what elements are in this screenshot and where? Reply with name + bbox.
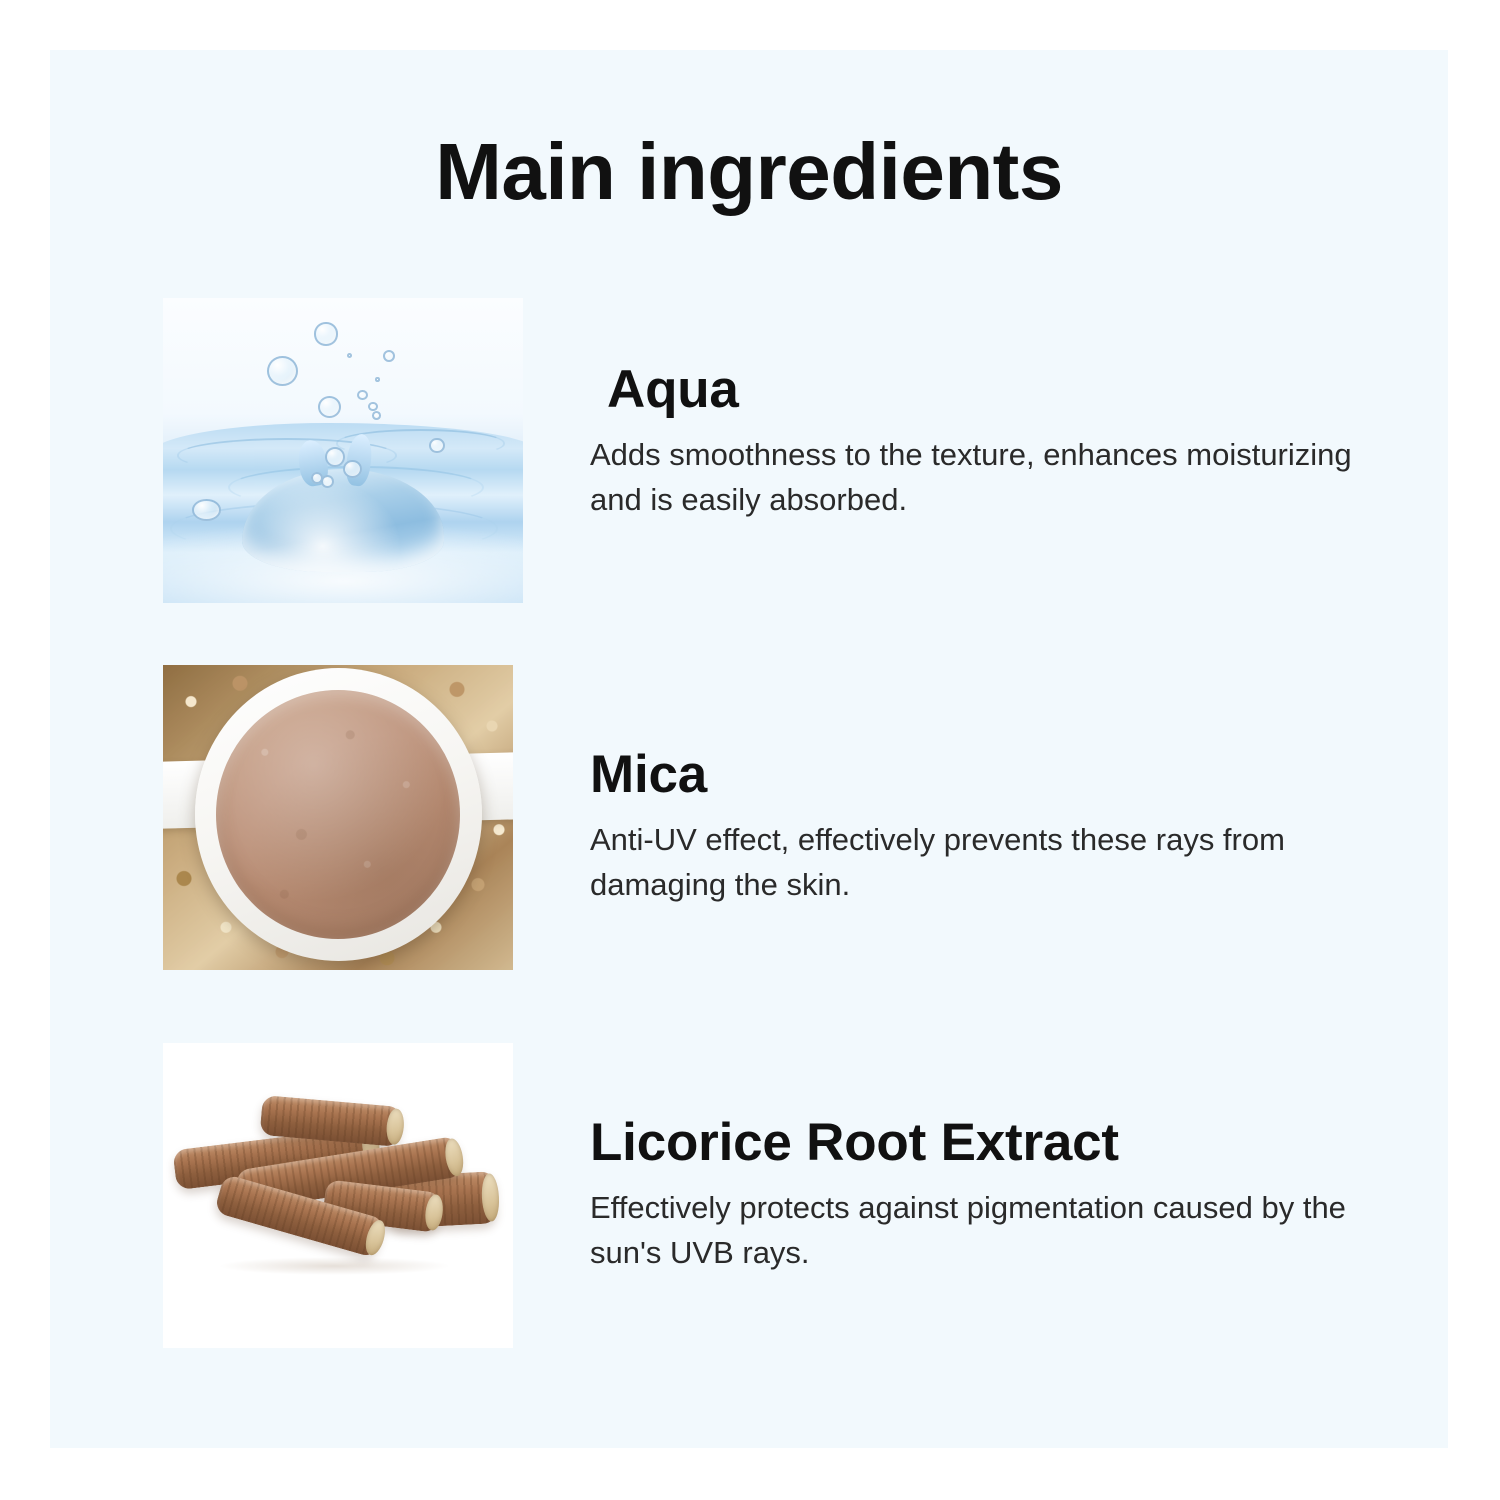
ingredient-text-mica: Mica Anti-UV effect, effectively prevent… <box>590 665 1420 970</box>
page-title: Main ingredients <box>50 132 1448 212</box>
bubble-icon <box>321 475 334 488</box>
bubble-icon <box>318 396 341 419</box>
bubble-icon <box>347 353 352 358</box>
ingredient-item-mica: Mica Anti-UV effect, effectively prevent… <box>163 665 1433 975</box>
bubble-icon <box>375 377 379 381</box>
ingredient-image-mica <box>163 665 513 970</box>
water-splash-icon <box>163 298 523 603</box>
bubble-icon <box>343 460 362 478</box>
ingredient-description: Anti-UV effect, effectively prevents the… <box>590 818 1360 908</box>
ingredient-name: Aqua <box>607 360 1420 419</box>
ingredient-text-licorice-root-extract: Licorice Root Extract Effectively protec… <box>590 1043 1420 1348</box>
bubble-icon <box>314 322 337 345</box>
bubble-icon <box>267 356 298 386</box>
licorice-root-icon <box>163 1043 513 1348</box>
ingredient-text-aqua: Aqua Adds smoothness to the texture, enh… <box>590 298 1420 603</box>
ingredients-panel: Main ingredients <box>50 50 1448 1448</box>
white-bowl <box>195 668 482 961</box>
ingredient-image-aqua <box>163 298 523 603</box>
bubble-icon <box>192 499 221 520</box>
ingredient-name: Licorice Root Extract <box>590 1113 1420 1172</box>
bubble-icon <box>383 350 395 362</box>
mica-powder-icon <box>163 665 513 970</box>
ingredient-name: Mica <box>590 745 1420 804</box>
powder-surface <box>216 690 460 939</box>
bubble-icon <box>372 411 381 420</box>
ingredient-description: Adds smoothness to the texture, enhances… <box>590 433 1360 523</box>
ingredient-image-licorice-root-extract <box>163 1043 513 1348</box>
ingredient-item-licorice-root-extract: Licorice Root Extract Effectively protec… <box>163 1043 1433 1353</box>
drop-shadow <box>219 1257 450 1275</box>
ingredient-description: Effectively protects against pigmentatio… <box>590 1186 1360 1276</box>
bubble-icon <box>368 402 377 411</box>
ingredient-item-aqua: Aqua Adds smoothness to the texture, enh… <box>163 298 1433 608</box>
bubble-icon <box>357 390 368 400</box>
bubble-icon <box>429 438 444 453</box>
